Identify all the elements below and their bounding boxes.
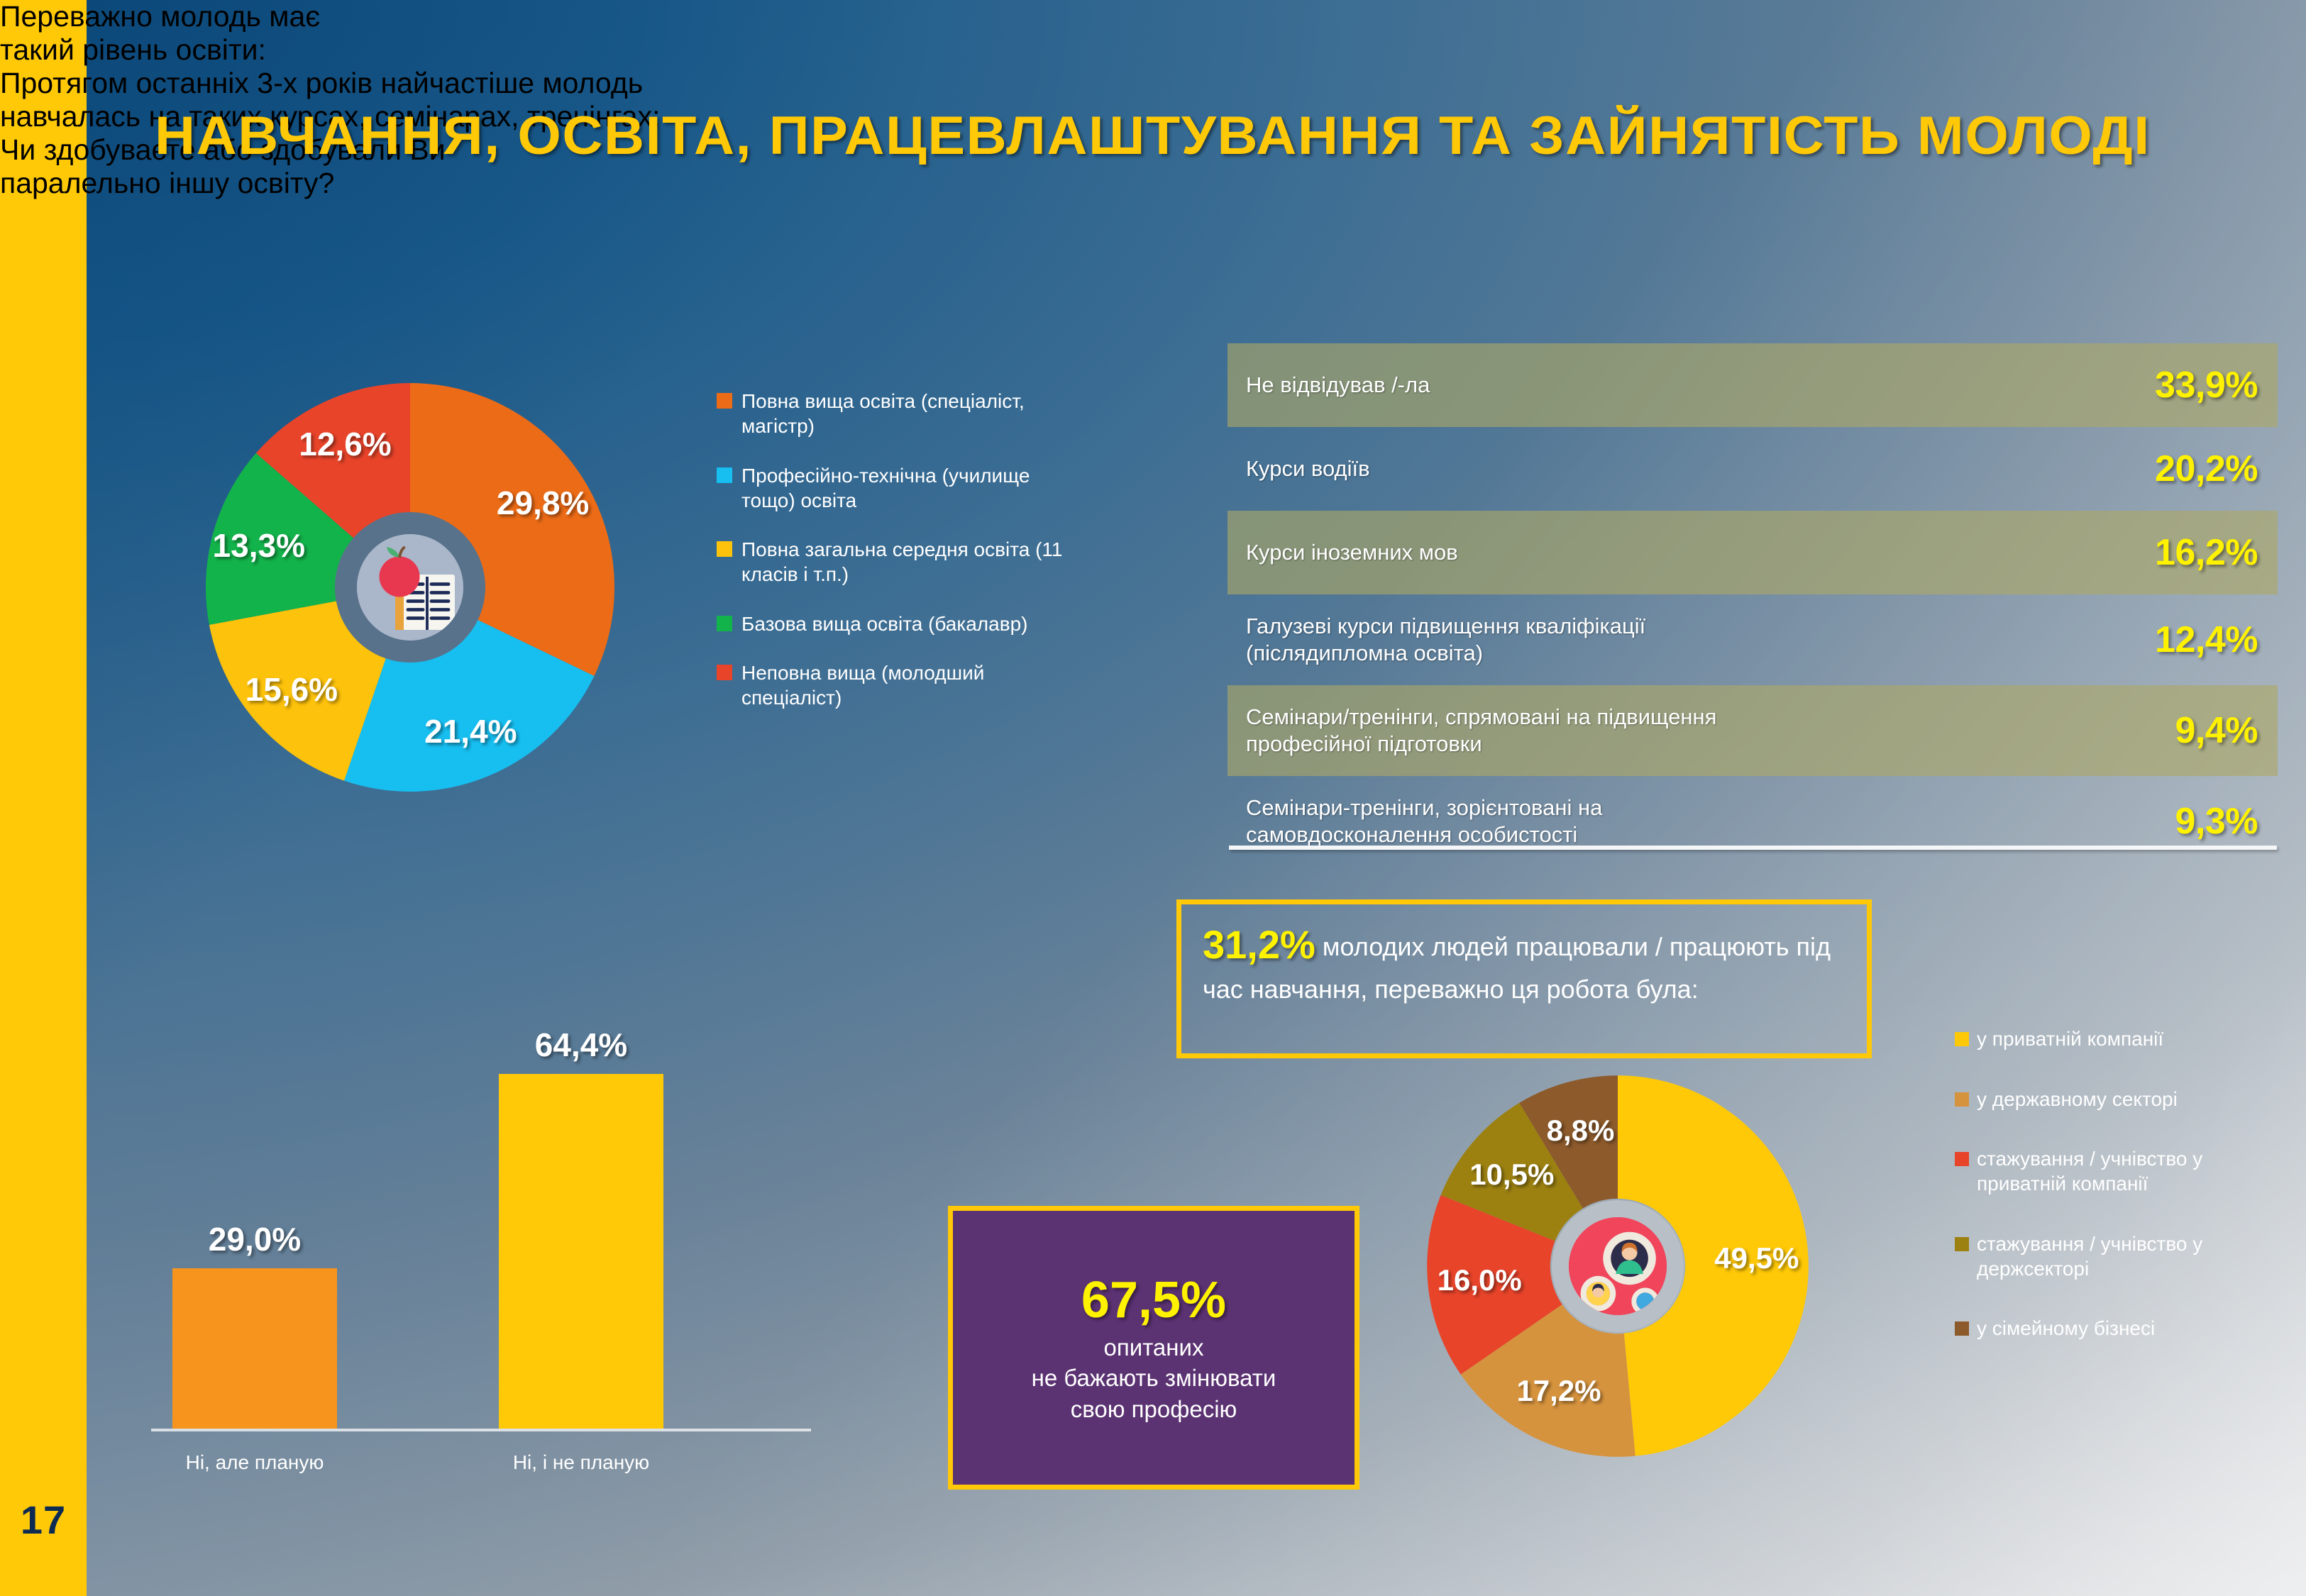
page-title: НАВЧАННЯ, ОСВІТА, ПРАЦЕВЛАШТУВАННЯ ТА ЗА… [155, 105, 2295, 167]
bar-category-label: Ні, але планую [109, 1451, 401, 1474]
legend-label: Базова вища освіта (бакалавр) [741, 611, 1027, 636]
work-callout-percent: 31,2% [1203, 922, 1315, 967]
legend-swatch-icon [717, 665, 732, 680]
heading-line: Переважно молодь має [0, 0, 490, 33]
table-row: Не відвідував /-ла33,9% [1228, 343, 2278, 427]
profession-line1: опитаних [1104, 1332, 1204, 1363]
legend-item: у державному секторі [1955, 1087, 2295, 1112]
pie-slice-label: 17,2% [1481, 1374, 1637, 1408]
profession-line3: свою професію [1071, 1394, 1237, 1425]
legend-item: у сімейному бізнесі [1955, 1317, 2295, 1341]
legend-label: стажування / учнівство у приватній компа… [1977, 1147, 2295, 1196]
bar [172, 1268, 337, 1429]
legend-item: Повна загальна середня освіта (11 класів… [717, 537, 1086, 587]
table-row-label-line: (післядипломна освіта) [1246, 640, 2084, 667]
work-type-legend: у приватній компаніїу державному секторі… [1955, 1027, 2295, 1377]
courses-table: Не відвідував /-ла33,9%Курси водіїв20,2%… [1228, 343, 2278, 867]
legend-item: стажування / учнівство у приватній компа… [1955, 1147, 2295, 1196]
legend-label: стажування / учнівство у держсекторі [1977, 1232, 2295, 1281]
table-bottom-rule [1229, 846, 2277, 850]
legend-item: Професійно-технічна (училище тощо) освіт… [717, 463, 1086, 514]
table-row-label: Галузеві курси підвищення кваліфікації(п… [1246, 613, 2084, 667]
book-apple-icon [357, 534, 463, 641]
profession-percent: 67,5% [1081, 1271, 1226, 1329]
profession-line2: не бажають змінювати [1032, 1363, 1276, 1394]
legend-label: Професійно-технічна (училище тощо) освіт… [741, 463, 1086, 514]
legend-label: Неповна вища (молодший спеціаліст) [741, 660, 1086, 711]
pie-slice-label: 29,8% [458, 484, 628, 522]
table-row: Курси водіїв20,2% [1228, 427, 2278, 511]
legend-item: стажування / учнівство у держсекторі [1955, 1232, 2295, 1281]
table-row-label: Курси іноземних мов [1246, 539, 2084, 566]
legend-label: у приватній компанії [1977, 1027, 2163, 1052]
table-row: Семінари-тренінги, зорієнтовані насамовд… [1228, 776, 2278, 867]
bar-category-label: Ні, і не планую [435, 1451, 727, 1474]
table-row-label: Курси водіїв [1246, 455, 2084, 482]
parallel-education-bar-chart: 29,0%Ні, але планую64,4%Ні, і не планую [138, 1085, 820, 1483]
pie-slice-label: 13,3% [174, 526, 344, 565]
legend-swatch-icon [1955, 1092, 1969, 1107]
pie-slice-label: 10,5% [1434, 1158, 1590, 1192]
legend-swatch-icon [717, 467, 732, 483]
bar-axis-line [151, 1429, 811, 1431]
heading-line: паралельно іншу освіту? [0, 167, 660, 200]
legend-item: Повна вища освіта (спеціаліст, магістр) [717, 389, 1086, 439]
bar-value-label: 29,0% [153, 1220, 357, 1258]
legend-swatch-icon [1955, 1237, 1969, 1251]
legend-label: у державному секторі [1977, 1087, 2178, 1112]
table-row-label: Семінари-тренінги, зорієнтовані насамовд… [1246, 794, 2084, 849]
people-gears-icon [1569, 1217, 1667, 1315]
education-legend: Повна вища освіта (спеціаліст, магістр)П… [717, 389, 1086, 734]
table-row-label-line: Семінари/тренінги, спрямовані на підвище… [1246, 704, 2084, 731]
legend-label: у сімейному бізнесі [1977, 1317, 2155, 1341]
table-row-label-line: Курси водіїв [1246, 455, 2084, 482]
pie-slice-label: 8,8% [1503, 1114, 1659, 1148]
legend-swatch-icon [1955, 1032, 1969, 1046]
table-row: Галузеві курси підвищення кваліфікації(п… [1228, 594, 2278, 685]
pie-slice-label: 16,0% [1401, 1263, 1557, 1297]
education-pie-heading: Переважно молодь маєтакий рівень освіти: [0, 0, 490, 67]
legend-swatch-icon [717, 541, 732, 557]
legend-swatch-icon [717, 616, 732, 631]
work-callout-text: 31,2% молодих людей працювали / працюють… [1203, 917, 1848, 1007]
legend-swatch-icon [1955, 1152, 1969, 1166]
slide-canvas: НАВЧАННЯ, ОСВІТА, ПРАЦЕВЛАШТУВАННЯ ТА ЗА… [0, 0, 2306, 1596]
table-row-label-line: Курси іноземних мов [1246, 539, 2084, 566]
pie-slice-label: 15,6% [206, 670, 377, 709]
work-during-study-callout: 31,2% молодих людей працювали / працюють… [1176, 899, 1872, 1058]
pie-slice-label: 12,6% [260, 425, 430, 463]
work-donut-center-disc [1552, 1200, 1684, 1332]
profession-change-box: 67,5% опитаних не бажають змінювати свою… [948, 1206, 1359, 1490]
donut-center-disc [335, 512, 485, 663]
table-row-label-line: самовдосконалення особистості [1246, 821, 2084, 848]
bar-value-label: 64,4% [479, 1026, 683, 1064]
legend-item: Базова вища освіта (бакалавр) [717, 611, 1086, 636]
table-row: Семінари/тренінги, спрямовані на підвище… [1228, 685, 2278, 776]
pie-slice-label: 21,4% [385, 712, 556, 750]
table-row-value: 9,3% [2084, 800, 2258, 843]
legend-swatch-icon [1955, 1321, 1969, 1336]
table-row-value: 33,9% [2084, 364, 2258, 406]
table-row-value: 12,4% [2084, 619, 2258, 661]
legend-label: Повна загальна середня освіта (11 класів… [741, 537, 1086, 587]
legend-label: Повна вища освіта (спеціаліст, магістр) [741, 389, 1086, 439]
table-row-label-line: Не відвідував /-ла [1246, 372, 2084, 399]
table-row-label: Не відвідував /-ла [1246, 372, 2084, 399]
table-row-label-line: Семінари-тренінги, зорієнтовані на [1246, 794, 2084, 821]
bar [499, 1074, 663, 1429]
table-row-label-line: професійної підготовки [1246, 731, 2084, 758]
table-row-value: 16,2% [2084, 531, 2258, 574]
table-row: Курси іноземних мов16,2% [1228, 511, 2278, 594]
legend-swatch-icon [717, 393, 732, 409]
table-row-value: 9,4% [2084, 709, 2258, 752]
table-row-label-line: Галузеві курси підвищення кваліфікації [1246, 613, 2084, 640]
heading-line: такий рівень освіти: [0, 33, 490, 67]
heading-line: Протягом останніх 3-х років найчастіше м… [0, 67, 1050, 100]
legend-item: Неповна вища (молодший спеціаліст) [717, 660, 1086, 711]
pie-slice-label: 49,5% [1679, 1241, 1835, 1275]
table-row-value: 20,2% [2084, 448, 2258, 490]
legend-item: у приватній компанії [1955, 1027, 2295, 1052]
table-row-label: Семінари/тренінги, спрямовані на підвище… [1246, 704, 2084, 758]
